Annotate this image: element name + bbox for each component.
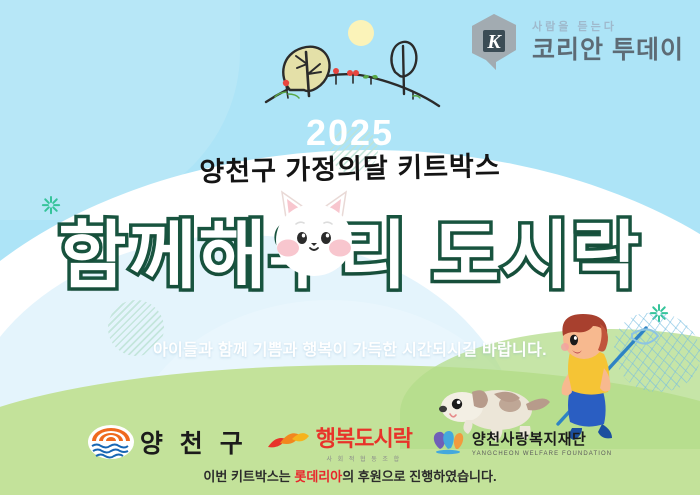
sponsor-note-before: 이번 키트박스는 bbox=[203, 469, 294, 484]
sponsor-note: 이번 키트박스는 롯데리아의 후원으로 진행하였습니다. bbox=[0, 466, 700, 485]
press-logo-tagline: 사람을 듣는다 bbox=[532, 22, 684, 33]
logo-yangcheon-gu: 양 천 구 bbox=[88, 424, 248, 460]
press-logo-mark-letter: K bbox=[486, 31, 502, 53]
poster-canvas: K 사람을 듣는다 코리안 투데이 2025 양천구 가정의달 키트박스 함께해… bbox=[0, 0, 700, 495]
logo-yangcheon-welfare-name: 양천사랑복지재단 bbox=[472, 428, 612, 449]
yangcheon-welfare-heart-icon bbox=[430, 427, 466, 457]
logo-yangcheon-welfare-sub: YANGCHEON WELFARE FOUNDATION bbox=[472, 451, 612, 457]
logo-happy-dosirak: 행복도시락 사 회 적 협 동 조 합 bbox=[266, 421, 412, 463]
white-cat-mascot-icon bbox=[266, 188, 362, 280]
logo-happy-dosirak-sub: 사 회 적 협 동 조 합 bbox=[316, 454, 412, 463]
logo-happy-dosirak-name: 행복도시락 bbox=[316, 421, 412, 453]
press-logo-name: 코리안 투데이 bbox=[532, 38, 684, 63]
logo-yangcheon-gu-name: 양 천 구 bbox=[140, 424, 248, 460]
happy-dosirak-bird-icon bbox=[266, 427, 310, 457]
sponsor-brand-name: 롯데리아 bbox=[294, 469, 342, 484]
sponsor-note-after: 의 후원으로 진행하였습니다. bbox=[342, 469, 496, 484]
hill-trees-sun-illustration bbox=[264, 6, 444, 111]
logo-yangcheon-welfare: 양천사랑복지재단 YANGCHEON WELFARE FOUNDATION bbox=[430, 427, 612, 457]
yangcheon-gu-sun-wave-emblem-icon bbox=[88, 425, 134, 459]
speech-bubble-logo-icon: K bbox=[466, 12, 522, 72]
footer-logo-row: 양 천 구 행복도시락 사 회 적 협 동 조 합 양천사랑복지재단 bbox=[0, 421, 700, 463]
press-logo: K 사람을 듣는다 코리안 투데이 bbox=[466, 12, 684, 72]
